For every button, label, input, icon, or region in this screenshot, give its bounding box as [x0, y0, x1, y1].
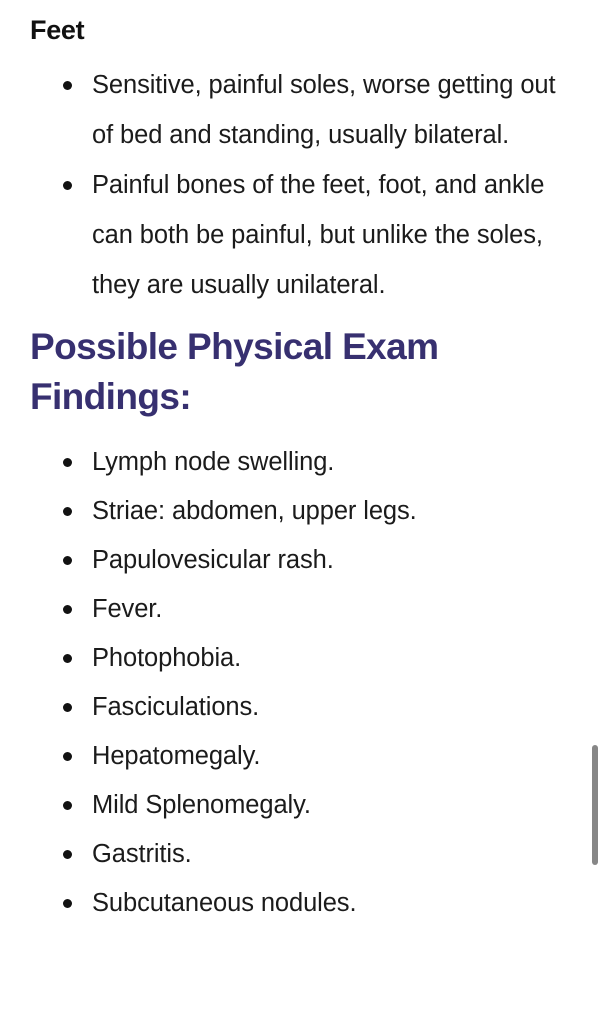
bullet-dot-icon: [63, 458, 72, 467]
list-item: Hepatomegaly.: [0, 732, 602, 781]
scrollbar-thumb[interactable]: [592, 745, 598, 865]
list-item: Fasciculations.: [0, 683, 602, 732]
section-heading-physical-exam-findings: Possible Physical Exam Findings:: [0, 310, 570, 430]
list-item-text: Subcutaneous nodules.: [92, 889, 356, 917]
list-item-text: Painful bones of the feet, foot, and ank…: [92, 171, 544, 299]
article-content: Feet Sensitive, painful soles, worse get…: [0, 0, 602, 928]
bullet-dot-icon: [63, 752, 72, 761]
list-item-text: Mild Splenomegaly.: [92, 791, 311, 819]
bullet-dot-icon: [63, 801, 72, 810]
list-item: Photophobia.: [0, 634, 602, 683]
page-root: Feet Sensitive, painful soles, worse get…: [0, 0, 602, 1023]
list-item: Gastritis.: [0, 830, 602, 879]
bullet-dot-icon: [63, 654, 72, 663]
list-item: Sensitive, painful soles, worse getting …: [0, 60, 602, 160]
bullet-dot-icon: [63, 556, 72, 565]
list-item-text: Papulovesicular rash.: [92, 546, 334, 574]
physical-exam-findings-list: Lymph node swelling. Striae: abdomen, up…: [0, 438, 602, 928]
list-item: Subcutaneous nodules.: [0, 879, 602, 928]
list-item-text: Gastritis.: [92, 840, 192, 868]
list-item-text: Photophobia.: [92, 644, 241, 672]
list-item-text: Sensitive, painful soles, worse getting …: [92, 71, 555, 149]
list-item: Striae: abdomen, upper legs.: [0, 487, 602, 536]
bullet-dot-icon: [63, 703, 72, 712]
vertical-scrollbar[interactable]: [588, 0, 602, 1023]
feet-symptom-list: Sensitive, painful soles, worse getting …: [0, 60, 602, 310]
list-item: Mild Splenomegaly.: [0, 781, 602, 830]
list-item-text: Fever.: [92, 595, 162, 623]
bullet-dot-icon: [63, 507, 72, 516]
list-item: Fever.: [0, 585, 602, 634]
section-heading-feet: Feet: [0, 0, 602, 46]
bullet-dot-icon: [63, 899, 72, 908]
list-item-text: Lymph node swelling.: [92, 448, 334, 476]
list-item: Papulovesicular rash.: [0, 536, 602, 585]
list-item: Lymph node swelling.: [0, 438, 602, 487]
list-item-text: Striae: abdomen, upper legs.: [92, 497, 417, 525]
list-item: Painful bones of the feet, foot, and ank…: [0, 160, 602, 310]
list-item-text: Hepatomegaly.: [92, 742, 260, 770]
bullet-dot-icon: [63, 850, 72, 859]
bullet-dot-icon: [63, 605, 72, 614]
bullet-dot-icon: [63, 81, 72, 90]
list-item-text: Fasciculations.: [92, 693, 259, 721]
bullet-dot-icon: [63, 181, 72, 190]
